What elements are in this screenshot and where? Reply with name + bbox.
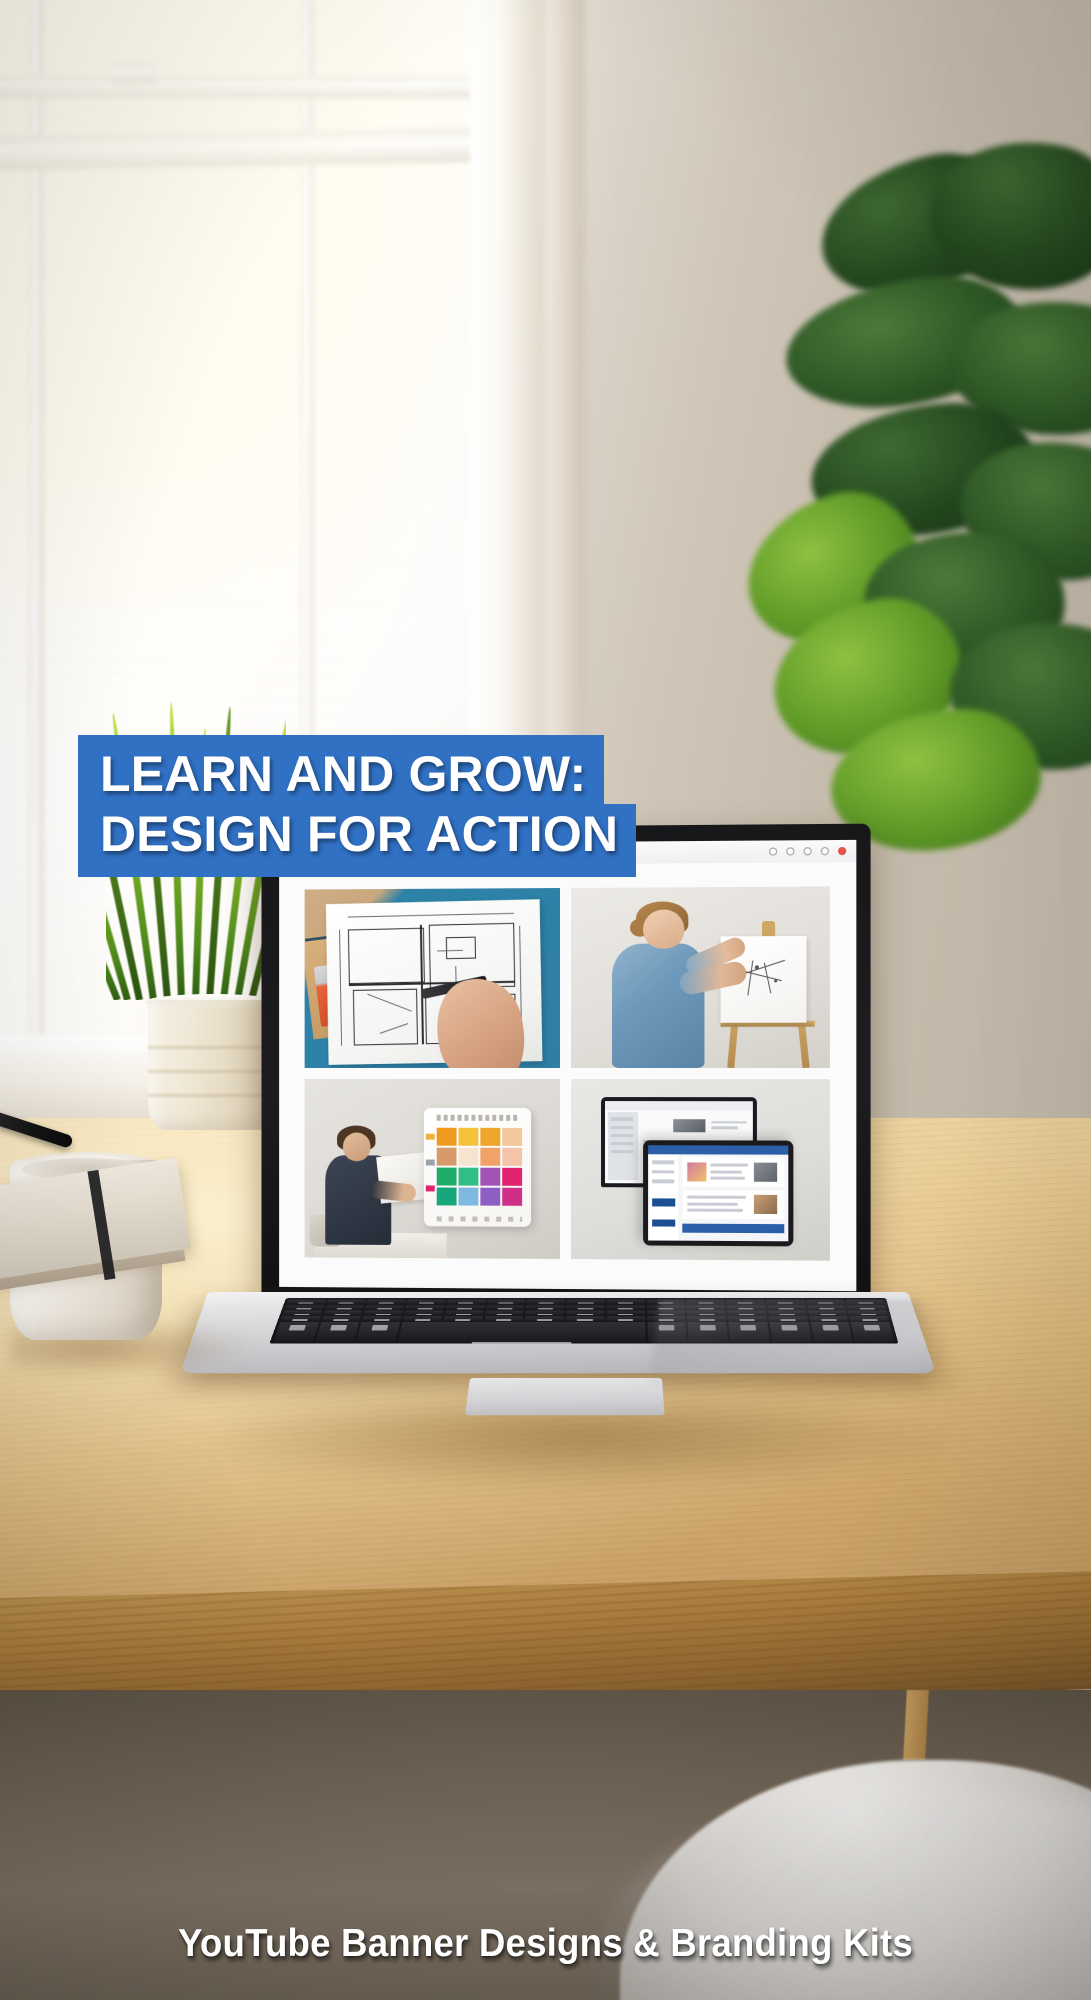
mock-tablet-line [687,1196,746,1199]
key [365,1305,404,1309]
blueprint-room [446,936,476,959]
mock-tablet-line [711,1177,745,1180]
mock-tablet [643,1140,794,1246]
mock-tablet-line [687,1202,738,1205]
blueprint-room [353,989,418,1045]
mock-sidebar-row [611,1117,633,1120]
mock-sidebar-row [611,1126,633,1129]
swatch-card-tab [426,1160,435,1166]
mock-tablet-line [687,1209,743,1212]
mock-content-line [711,1121,746,1124]
mock-tablet-nav-row [652,1170,674,1174]
color-swatch-11 [480,1168,500,1187]
swatch-card-tab [426,1186,435,1192]
browser-dot-1-icon[interactable] [769,847,777,855]
mock-sidebar-row [611,1142,633,1145]
laptop-trackpad[interactable] [465,1378,665,1415]
color-swatch-2 [459,1128,479,1146]
key [446,1305,485,1309]
pot-ring [148,1070,276,1073]
tile-palette[interactable] [305,1079,560,1259]
key [281,1316,321,1321]
key-space [398,1322,645,1342]
key [405,1305,444,1309]
mock-sidebar-row [611,1134,633,1137]
color-swatch-7 [480,1148,500,1166]
mock-tablet-screen [648,1145,789,1240]
swatch-grid [437,1128,523,1206]
tile-devices[interactable] [570,1079,829,1261]
mock-tablet-thumb [687,1163,707,1182]
palmrest-shadow [648,1300,932,1385]
screen-tile-grid [279,862,856,1291]
color-swatch-10 [459,1168,479,1186]
mock-tablet-footer [683,1223,784,1233]
color-swatch-4 [502,1128,522,1146]
key [606,1311,644,1315]
mock-content-line [711,1127,738,1130]
key [566,1305,604,1309]
key [527,1300,565,1304]
key [323,1311,363,1315]
key [566,1316,605,1321]
color-swatch-14 [459,1187,479,1206]
bottom-caption: YouTube Banner Designs & Branding Kits [33,1922,1059,1966]
canvas-sketch-dot [774,979,777,982]
color-swatch-5 [437,1148,457,1166]
key [447,1300,486,1304]
color-swatch-card [424,1108,531,1227]
headline-line-1: LEARN AND GROW: [78,735,604,804]
color-swatch-16 [502,1188,522,1207]
key [566,1311,605,1315]
browser-dot-5-record-icon[interactable] [838,847,846,855]
key [325,1305,364,1309]
key [525,1316,564,1321]
key-alt [315,1322,360,1342]
swatch-card-footer [437,1216,523,1221]
key [407,1300,446,1304]
blueprint-detail [438,949,464,951]
browser-dot-3-icon[interactable] [804,847,812,855]
headline-banner: LEARN AND GROW: DESIGN FOR ACTION [78,735,636,877]
swatch-card-tab [426,1134,435,1140]
mock-tablet-sidebar [648,1154,679,1240]
color-swatch-8 [502,1148,522,1167]
plant-pot [148,1000,276,1130]
key [444,1316,483,1321]
fiddle-leaf-plant [761,150,1091,850]
color-swatch-9 [437,1167,457,1185]
color-swatch-1 [437,1128,457,1146]
browser-dot-2-icon[interactable] [786,847,794,855]
window-mullion-horizontal-1 [0,76,530,98]
key [484,1316,523,1321]
key [403,1316,443,1321]
tile-easel[interactable] [570,886,829,1068]
window-latch [110,62,158,84]
mock-sidebar [608,1113,637,1180]
person-head [343,1132,371,1161]
key [367,1300,406,1304]
browser-dot-4-icon[interactable] [821,847,829,855]
color-swatch-6 [459,1148,479,1166]
mock-sidebar-row [611,1150,633,1153]
key [283,1311,323,1315]
key [327,1300,366,1304]
mock-tablet-thumb-2 [754,1163,777,1182]
key [607,1305,645,1309]
key [606,1316,645,1321]
pot-ring [148,1094,276,1097]
color-swatch-15 [480,1188,500,1207]
canvas-sketch-line [747,960,753,995]
mock-tablet-nav-row [652,1179,674,1183]
key [487,1300,525,1304]
tile-blueprint[interactable] [305,888,560,1068]
key [567,1300,605,1304]
mock-content-image [673,1119,705,1132]
key [607,1300,645,1304]
color-swatch-3 [480,1128,500,1146]
desk-leg [903,1690,929,1760]
blueprint-dim-line [347,912,514,917]
key [404,1311,443,1315]
mock-tablet-cta-button-2 [652,1219,676,1227]
color-swatch-13 [437,1187,457,1206]
key-cmd [356,1322,400,1342]
mock-top-bar [605,1101,752,1110]
key [485,1311,524,1315]
key [486,1305,525,1309]
key [526,1305,565,1309]
key-ctrl [273,1322,319,1342]
key [362,1316,402,1321]
person-head [643,909,684,949]
mock-tablet-nav-row [652,1161,674,1165]
mock-tablet-cta-button [652,1198,676,1206]
canvas-sketch-dot [755,965,759,969]
scene-root: LEARN AND GROW: DESIGN FOR ACTION YouTub… [0,0,1091,2000]
key [287,1300,326,1304]
key [285,1305,325,1309]
color-swatch-12 [502,1168,522,1187]
key [526,1311,565,1315]
swatch-card-header [437,1115,519,1121]
laptop-screen[interactable] [279,840,856,1291]
mock-tablet-thumb-3 [754,1195,777,1214]
mock-tablet-line [711,1170,742,1173]
laptop-lid [261,824,870,1304]
pot-ring [148,1046,276,1049]
mock-tablet-line [711,1164,748,1167]
key [445,1311,484,1315]
key [364,1311,403,1315]
key [321,1316,361,1321]
headline-line-2: DESIGN FOR ACTION [78,804,636,877]
blueprint-dim-line [339,929,342,1045]
blueprint-room [348,927,426,983]
